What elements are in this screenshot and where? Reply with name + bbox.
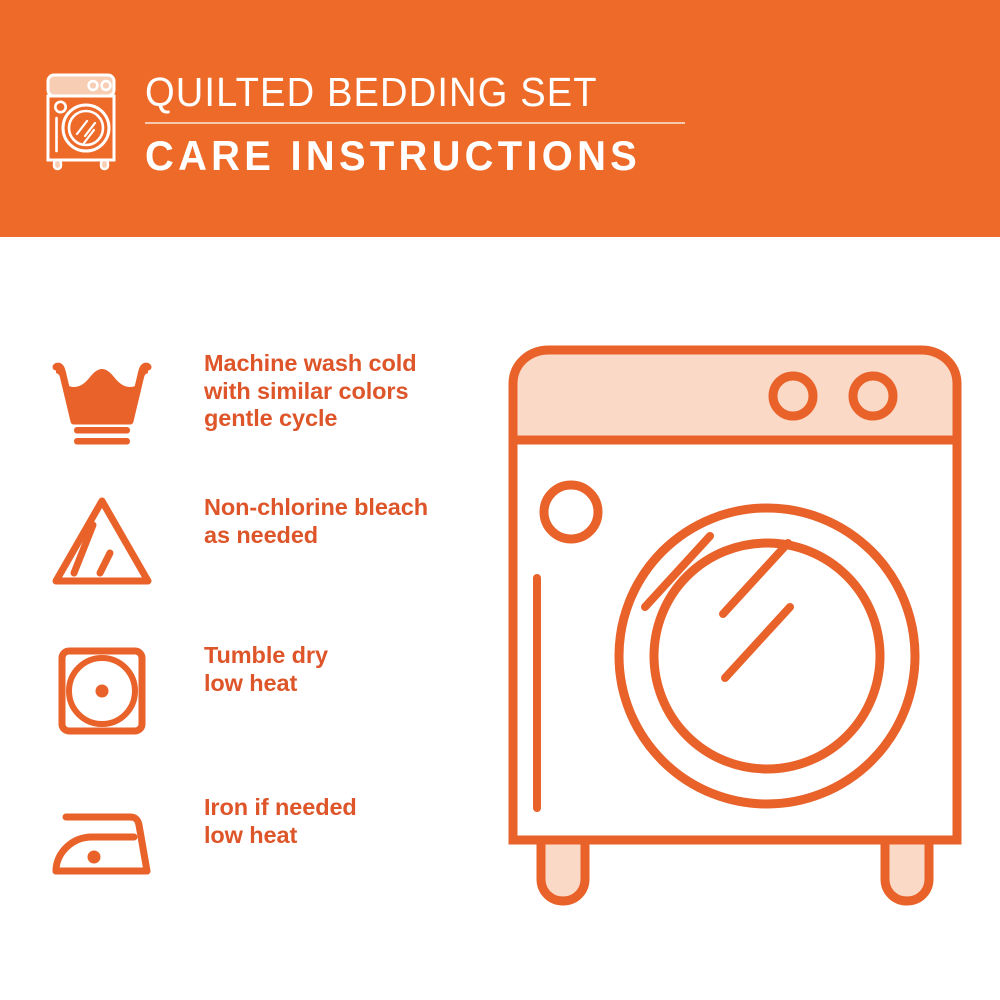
title-divider — [145, 122, 685, 124]
svg-text:30: 30 — [86, 377, 117, 408]
instruction-item-iron: Iron if needed low heat — [48, 789, 468, 897]
tumble-dry-square-icon — [48, 637, 156, 745]
instruction-item-tumble-dry: Tumble dry low heat — [48, 637, 468, 745]
instruction-label-wash: Machine wash cold with similar colors ge… — [204, 350, 416, 433]
washing-machine-illustration — [495, 336, 975, 936]
iron-icon — [48, 789, 156, 897]
instruction-label-iron: Iron if needed low heat — [204, 794, 357, 849]
instruction-list: 30 Machine wash cold with similar colors… — [0, 237, 470, 1000]
wash-tub-30-icon: 30 — [48, 345, 156, 453]
instruction-item-bleach: Non-chlorine bleach as needed — [48, 489, 468, 597]
page-subtitle: CARE INSTRUCTIONS — [145, 131, 677, 181]
page-title: QUILTED BEDDING SET — [145, 68, 666, 116]
header-band: QUILTED BEDDING SET CARE INSTRUCTIONS — [0, 0, 1000, 237]
foot-left — [541, 840, 585, 901]
bleach-triangle-icon — [48, 489, 156, 597]
instruction-label-tumble-dry: Tumble dry low heat — [204, 642, 328, 697]
instruction-label-bleach: Non-chlorine bleach as needed — [204, 494, 428, 549]
knob-left-icon — [773, 376, 813, 416]
instruction-item-wash: 30 Machine wash cold with similar colors… — [48, 345, 468, 453]
knob-right-icon — [853, 376, 893, 416]
care-instructions-page: QUILTED BEDDING SET CARE INSTRUCTIONS 30 — [0, 0, 1000, 1000]
foot-right — [885, 840, 929, 901]
header-text-block: QUILTED BEDDING SET CARE INSTRUCTIONS — [145, 68, 705, 181]
washing-machine-icon — [45, 72, 117, 174]
